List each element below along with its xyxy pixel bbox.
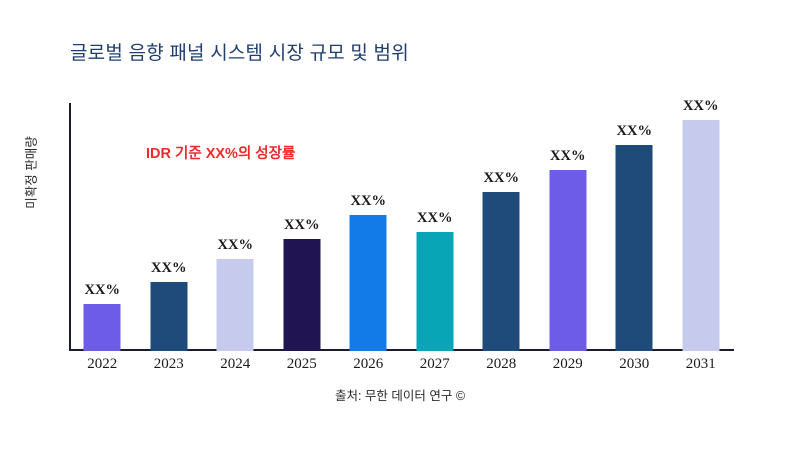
bar-value-label-2023: XX% — [151, 260, 186, 277]
bar-2026[interactable] — [350, 215, 387, 351]
x-tick-2023: 2023 — [136, 356, 202, 373]
x-tick-2022: 2022 — [69, 356, 135, 373]
bar-value-label-2030: XX% — [617, 123, 652, 140]
x-tick-2030: 2030 — [601, 356, 667, 373]
bar-2029[interactable] — [549, 170, 586, 351]
bar-2024[interactable] — [217, 259, 254, 351]
bar-group-2030[interactable]: XX% — [601, 103, 667, 351]
chart-container: 글로벌 음향 패널 시스템 시장 규모 및 범위 미확정 판매량 XX%XX%X… — [0, 0, 800, 450]
growth-rate-annotation: IDR 기준 XX%의 성장률 — [146, 142, 295, 163]
bar-group-2026[interactable]: XX% — [335, 103, 401, 351]
bar-group-2022[interactable]: XX% — [69, 103, 135, 351]
bar-group-2028[interactable]: XX% — [468, 103, 534, 351]
bar-value-label-2025: XX% — [284, 217, 319, 234]
x-tick-2027: 2027 — [402, 356, 468, 373]
bar-group-2029[interactable]: XX% — [535, 103, 601, 351]
bar-2030[interactable] — [616, 145, 653, 351]
bar-group-2031[interactable]: XX% — [668, 103, 734, 351]
bar-series: XX%XX%XX%XX%XX%XX%XX%XX%XX%XX% — [69, 103, 734, 351]
bar-2023[interactable] — [150, 282, 187, 351]
x-tick-2025: 2025 — [269, 356, 335, 373]
x-tick-2028: 2028 — [468, 356, 534, 373]
x-axis-tick-labels: 2022202320242025202620272028202920302031 — [69, 356, 734, 378]
x-tick-2024: 2024 — [202, 356, 268, 373]
bar-group-2027[interactable]: XX% — [402, 103, 468, 351]
bar-2031[interactable] — [682, 120, 719, 351]
bar-group-2023[interactable]: XX% — [136, 103, 202, 351]
bar-group-2025[interactable]: XX% — [269, 103, 335, 351]
x-tick-2031: 2031 — [668, 356, 734, 373]
bar-2027[interactable] — [416, 232, 453, 351]
bar-2028[interactable] — [483, 192, 520, 351]
bar-value-label-2026: XX% — [351, 193, 386, 210]
y-axis-label-wrapper: 미확정 판매량 — [0, 105, 60, 255]
source-caption: 출처: 무한 데이터 연구 © — [0, 385, 800, 404]
bar-value-label-2024: XX% — [218, 237, 253, 254]
bar-2022[interactable] — [84, 304, 121, 351]
bar-value-label-2031: XX% — [683, 98, 718, 115]
x-tick-2029: 2029 — [535, 356, 601, 373]
bar-group-2024[interactable]: XX% — [202, 103, 268, 351]
plot-area: XX%XX%XX%XX%XX%XX%XX%XX%XX%XX% — [69, 103, 734, 351]
bar-value-label-2022: XX% — [85, 282, 120, 299]
bar-2025[interactable] — [283, 239, 320, 351]
bar-value-label-2029: XX% — [550, 148, 585, 165]
page-title: 글로벌 음향 패널 시스템 시장 규모 및 범위 — [70, 38, 409, 65]
x-tick-2026: 2026 — [335, 356, 401, 373]
y-axis-label: 미확정 판매량 — [21, 105, 40, 241]
bar-value-label-2027: XX% — [417, 210, 452, 227]
bar-value-label-2028: XX% — [484, 170, 519, 187]
